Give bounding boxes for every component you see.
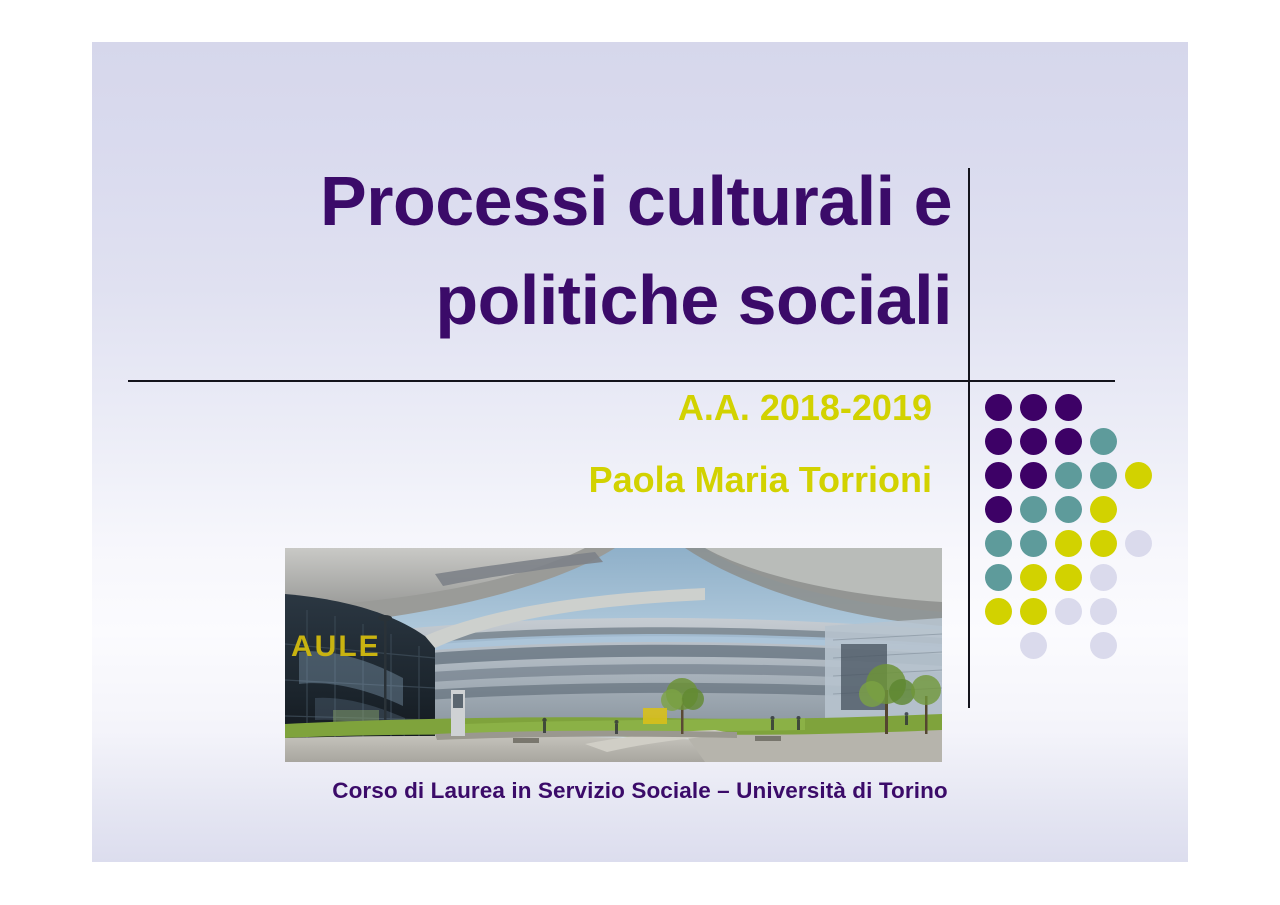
title-line-2: politiche sociali — [152, 251, 952, 350]
decorative-dot-purple — [985, 394, 1012, 421]
decorative-dot-pale — [1125, 530, 1152, 557]
decorative-dot-teal — [1055, 496, 1082, 523]
decorative-dot-yellow — [1090, 496, 1117, 523]
decorative-dot-teal — [1020, 530, 1047, 557]
decorative-dot-purple — [1055, 428, 1082, 455]
decorative-dot-yellow — [985, 598, 1012, 625]
horizontal-divider-line — [128, 380, 1115, 382]
decorative-dot-grid — [985, 394, 1160, 664]
decorative-dot-yellow — [1020, 598, 1047, 625]
decorative-dot-purple — [1020, 462, 1047, 489]
decorative-dot-yellow — [1020, 564, 1047, 591]
decorative-dot-yellow — [1090, 530, 1117, 557]
decorative-dot-teal — [1055, 462, 1082, 489]
author-name-text: Paola Maria Torrioni — [332, 462, 932, 498]
page-title: Processi culturali e politiche sociali — [152, 152, 952, 351]
decorative-dot-pale — [1055, 598, 1082, 625]
campus-photo-illustration: AULE — [285, 548, 942, 762]
decorative-dot-yellow — [1055, 564, 1082, 591]
decorative-dot-teal — [985, 564, 1012, 591]
decorative-dot-purple — [1020, 428, 1047, 455]
decorative-dot-purple — [985, 428, 1012, 455]
course-caption: Corso di Laurea in Servizio Sociale – Un… — [92, 778, 1188, 804]
slide-stage: Processi culturali e politiche sociali A… — [0, 0, 1280, 905]
decorative-dot-purple — [985, 496, 1012, 523]
presentation-slide: Processi culturali e politiche sociali A… — [92, 42, 1188, 862]
decorative-dot-pale — [1090, 632, 1117, 659]
academic-year-text: A.A. 2018-2019 — [332, 390, 932, 426]
decorative-dot-pale — [1090, 598, 1117, 625]
decorative-dot-pale — [1090, 564, 1117, 591]
decorative-dot-purple — [1020, 394, 1047, 421]
aule-sign-text: AULE — [291, 630, 381, 663]
title-line-1: Processi culturali e — [152, 152, 952, 251]
decorative-dot-teal — [1090, 428, 1117, 455]
decorative-dot-teal — [985, 530, 1012, 557]
decorative-dot-yellow — [1055, 530, 1082, 557]
decorative-dot-teal — [1090, 462, 1117, 489]
subtitle-block: A.A. 2018-2019 Paola Maria Torrioni — [332, 390, 932, 498]
decorative-dot-yellow — [1125, 462, 1152, 489]
decorative-dot-pale — [1020, 632, 1047, 659]
campus-building-photo: AULE — [285, 548, 942, 762]
decorative-dot-teal — [1020, 496, 1047, 523]
vertical-divider-line — [968, 168, 970, 708]
decorative-dot-purple — [1055, 394, 1082, 421]
decorative-dot-purple — [985, 462, 1012, 489]
